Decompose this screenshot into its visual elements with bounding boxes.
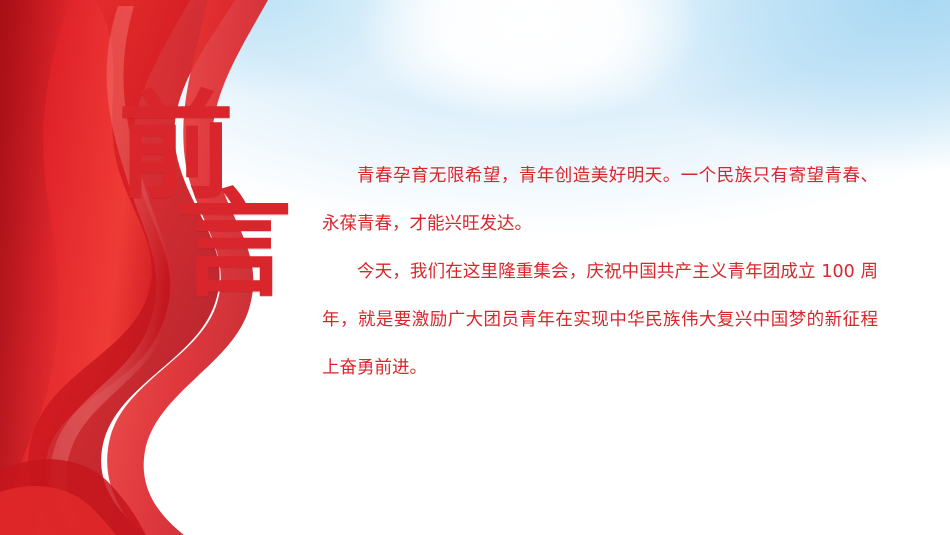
paragraph-1: 青春孕育无限希望，青年创造美好明天。一个民族只有寄望青春、永葆青春，才能兴旺发达… bbox=[322, 152, 878, 248]
paragraph-2: 今天，我们在这里隆重集会，庆祝中国共产主义青年团成立 100 周年，就是要激励广… bbox=[322, 248, 878, 392]
slide-canvas: 前 言 青春孕育无限希望，青年创造美好明天。一个民族只有寄望青春、永葆青春，才能… bbox=[0, 0, 950, 535]
page-title: 前 言 bbox=[118, 96, 348, 298]
body-text-block: 青春孕育无限希望，青年创造美好明天。一个民族只有寄望青春、永葆青春，才能兴旺发达… bbox=[322, 152, 878, 392]
